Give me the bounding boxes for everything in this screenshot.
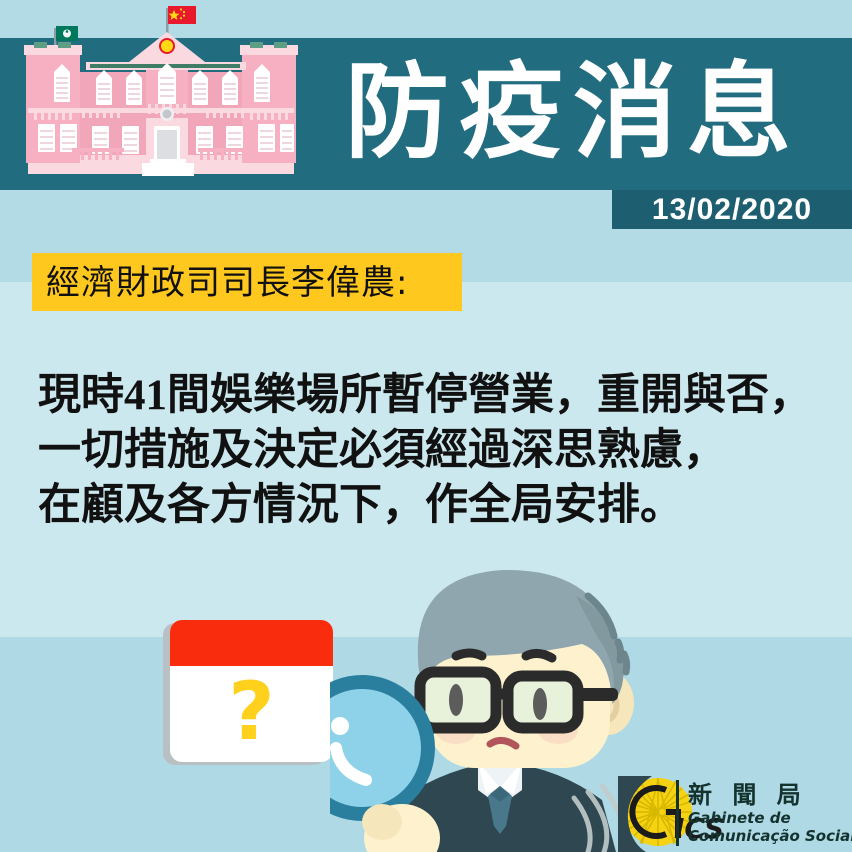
speaker-banner-label: 經濟財政司司長李偉農:	[46, 258, 466, 308]
announcement-line-1: 現時41間娛樂場所暫停營業，重開與否，	[38, 368, 838, 423]
poster-canvas: 防疫消息 13/02/2020 經濟財政司司長李偉農: 現時41間娛樂場所暫停營…	[0, 0, 852, 852]
announcement-line-3: 在顧及各方情況下，作全局安排。	[38, 478, 838, 533]
government-headquarters-illustration	[0, 0, 322, 205]
logo-divider	[676, 780, 679, 846]
announcement-line-2: 一切措施及決定必須經過深思熟慮，	[38, 423, 838, 478]
calendar-illustration: ?	[170, 620, 333, 762]
logo-chinese-name: 新 聞 局	[688, 782, 807, 808]
calendar-header-bar	[170, 620, 333, 666]
logo-portuguese-line2: Comunicação Social	[688, 828, 852, 845]
calendar-question-mark: ?	[170, 666, 333, 762]
logo-portuguese-line1: Gabinete de	[688, 810, 791, 827]
page-title: 防疫消息	[345, 40, 845, 188]
date-badge: 13/02/2020	[612, 190, 852, 229]
announcement-body: 現時41間娛樂場所暫停營業，重開與否， 一切措施及決定必須經過深思熟慮， 在顧及…	[38, 368, 838, 533]
